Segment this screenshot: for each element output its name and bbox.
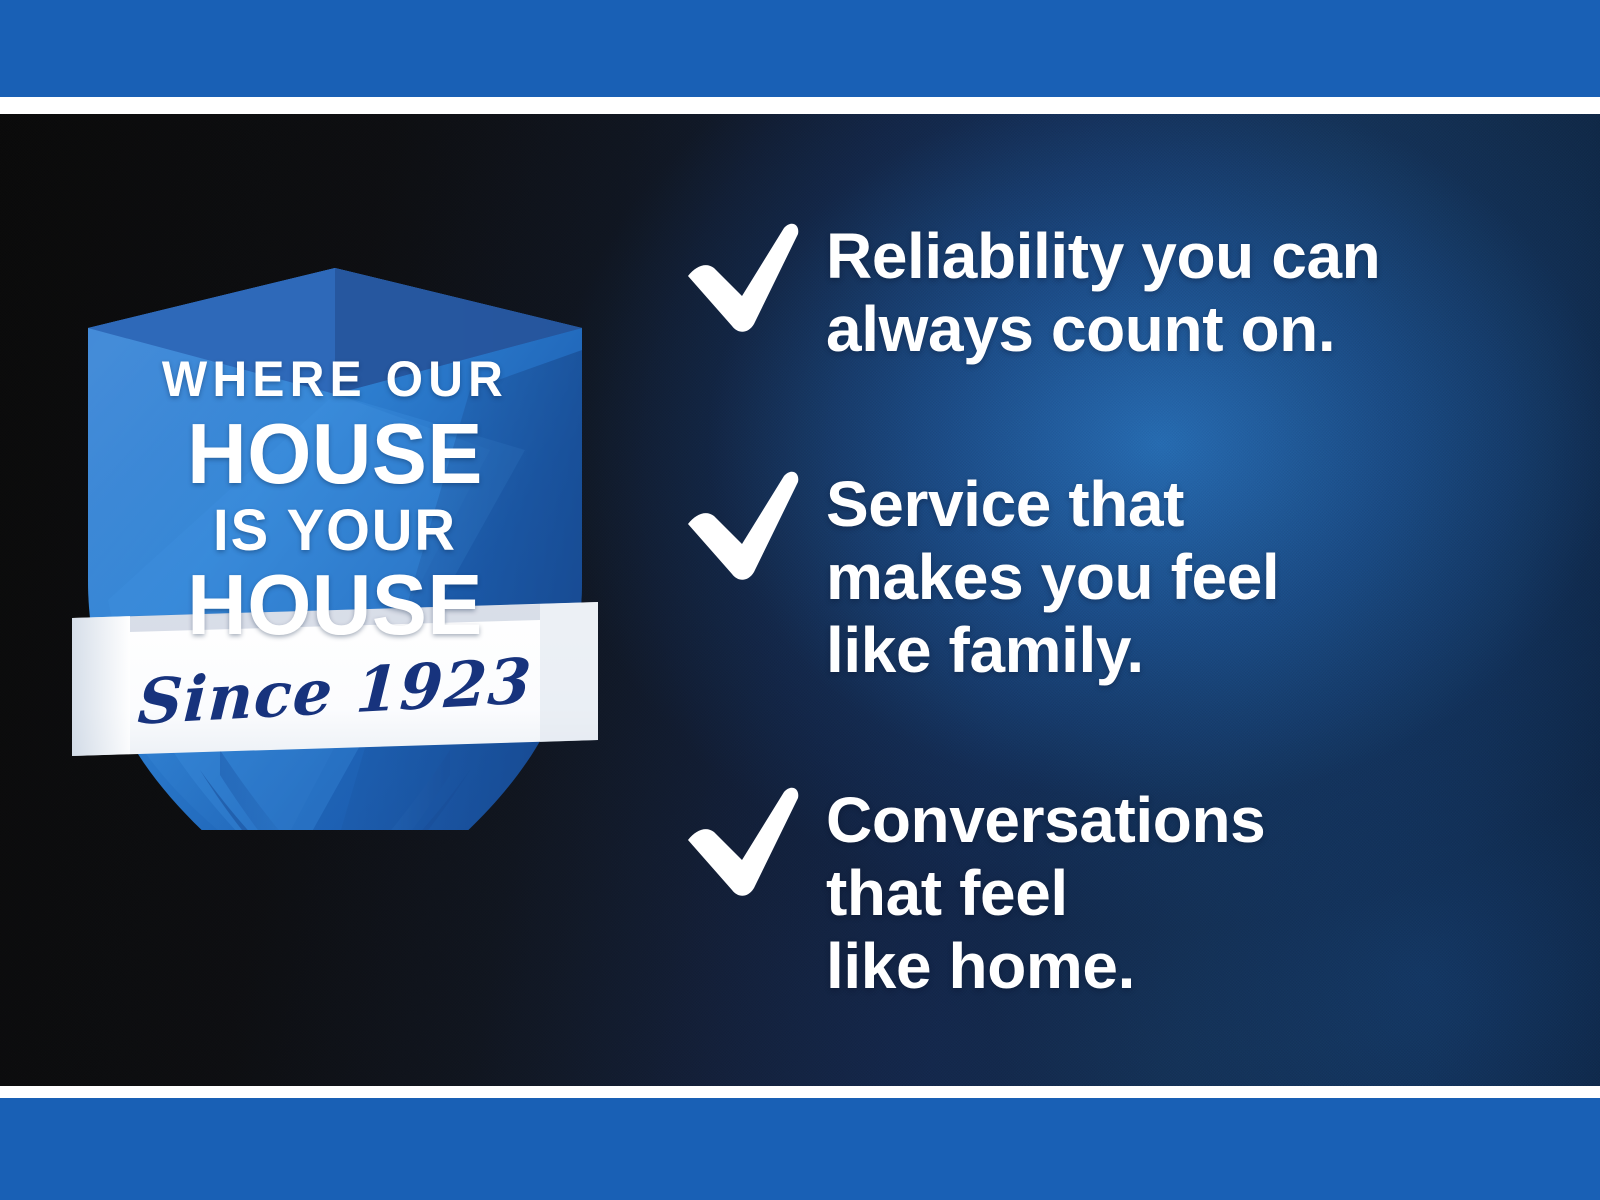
bottom-brand-bar xyxy=(0,1098,1600,1200)
checkmark-icon xyxy=(674,218,802,334)
top-white-rule xyxy=(0,97,1600,114)
list-item-text: Service that makes you feel like family. xyxy=(826,468,1279,687)
benefits-list: Reliability you can always count on. Ser… xyxy=(660,114,1540,1086)
logo-line-4: HOUSE xyxy=(78,563,592,648)
list-item: Reliability you can always count on. xyxy=(674,218,1380,366)
list-item: Conversations that feel like home. xyxy=(674,782,1265,1003)
list-item-text: Reliability you can always count on. xyxy=(826,220,1380,366)
logo-line-2: HOUSE xyxy=(78,412,592,497)
logo-shield: WHERE OUR HOUSE IS YOUR HOUSE Since 1923 xyxy=(70,150,600,830)
promo-graphic: WHERE OUR HOUSE IS YOUR HOUSE Since 1923… xyxy=(0,0,1600,1200)
logo-line-1: WHERE OUR xyxy=(81,354,590,404)
list-item: Service that makes you feel like family. xyxy=(674,466,1279,687)
logo-line-3: IS YOUR xyxy=(78,502,592,560)
bottom-white-rule xyxy=(0,1086,1600,1098)
checkmark-icon xyxy=(674,782,802,898)
checkmark-icon xyxy=(674,466,802,582)
top-brand-bar xyxy=(0,0,1600,97)
list-item-text: Conversations that feel like home. xyxy=(826,784,1265,1003)
